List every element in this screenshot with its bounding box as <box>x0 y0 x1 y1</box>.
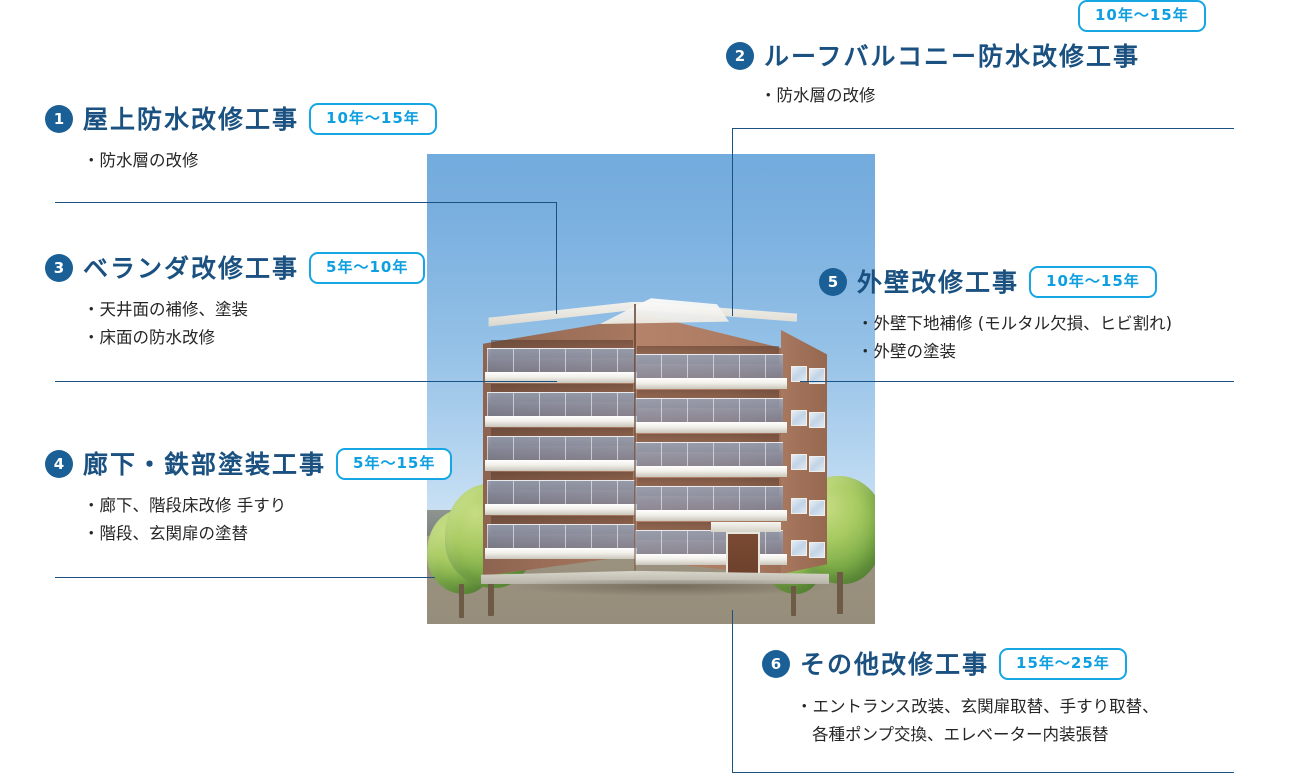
balcony-railing <box>487 480 635 506</box>
window <box>791 366 807 382</box>
balcony-slab <box>485 504 637 515</box>
connector-line-2 <box>732 128 1234 129</box>
balcony-railing <box>487 348 635 374</box>
section-title: ベランダ改修工事 <box>83 256 299 281</box>
list-item: 床面の防水改修 <box>83 324 425 352</box>
window <box>791 454 807 470</box>
section-title: ルーフバルコニー防水改修工事 <box>764 44 1140 69</box>
balcony-railing <box>635 398 783 424</box>
connector-line-4 <box>55 577 435 578</box>
balcony-slab <box>485 416 637 427</box>
building-structure <box>483 294 823 584</box>
section-1-header: 1 屋上防水改修工事 10年〜15年 <box>45 103 437 135</box>
section-1-rooftop-waterproofing: 1 屋上防水改修工事 10年〜15年 防水層の改修 <box>45 103 437 175</box>
balcony-railing <box>635 442 783 468</box>
balcony-railing <box>635 486 783 512</box>
building-ground-shadow <box>513 580 833 596</box>
section-5-items: 外壁下地補修 (モルタル欠損、ヒビ割れ) 外壁の塗装 <box>819 310 1172 367</box>
section-number-badge: 6 <box>762 650 790 678</box>
section-title: 屋上防水改修工事 <box>83 107 299 132</box>
section-number-badge: 3 <box>45 254 73 282</box>
balcony-slab <box>635 422 787 433</box>
connector-line-1 <box>556 202 557 314</box>
balcony-slab <box>635 554 787 565</box>
balcony-slab <box>485 460 637 471</box>
section-3-items: 天井面の補修、塗装 床面の防水改修 <box>45 296 425 353</box>
window <box>791 410 807 426</box>
section-4-corridor-steel-painting: 4 廊下・鉄部塗装工事 5年〜15年 廊下、階段床改修 手すり 階段、玄関扉の塗… <box>45 448 452 549</box>
section-number-badge: 5 <box>819 268 847 296</box>
section-5-header: 5 外壁改修工事 10年〜15年 <box>819 266 1172 298</box>
cycle-badge: 10年〜15年 <box>309 103 437 135</box>
connector-line-3 <box>55 381 557 382</box>
cycle-badge: 5年〜10年 <box>309 252 425 284</box>
section-title: 外壁改修工事 <box>857 270 1019 295</box>
cycle-badge: 5年〜15年 <box>336 448 452 480</box>
section-4-items: 廊下、階段床改修 手すり 階段、玄関扉の塗替 <box>45 492 452 549</box>
section-3-veranda-renovation: 3 ベランダ改修工事 5年〜10年 天井面の補修、塗装 床面の防水改修 <box>45 252 425 353</box>
cycle-badge: 10年〜15年 <box>1029 266 1157 298</box>
window <box>809 542 825 558</box>
list-item: 防水層の改修 <box>83 147 437 175</box>
cycle-badge: 10年〜15年 <box>1078 0 1206 32</box>
balcony-railing <box>487 524 635 550</box>
window <box>791 498 807 514</box>
section-2-roof-balcony-waterproofing: 10年〜15年 2 ルーフバルコニー防水改修工事 防水層の改修 <box>726 42 1140 110</box>
balcony-slab <box>485 548 637 559</box>
list-item: エントランス改装、玄関扉取替、手すり取替、 <box>796 693 1159 721</box>
window <box>791 540 807 556</box>
window <box>809 456 825 472</box>
section-6-other-renovation: 6 その他改修工事 15年〜25年 エントランス改装、玄関扉取替、手すり取替、 … <box>762 648 1159 750</box>
section-1-items: 防水層の改修 <box>45 147 437 175</box>
section-title: その他改修工事 <box>800 652 989 677</box>
list-item: 外壁下地補修 (モルタル欠損、ヒビ割れ) <box>857 310 1172 338</box>
section-2-header: 2 ルーフバルコニー防水改修工事 <box>726 42 1140 70</box>
list-item: 廊下、階段床改修 手すり <box>83 492 452 520</box>
section-6-header: 6 その他改修工事 15年〜25年 <box>762 648 1159 680</box>
apartment-building-image <box>427 154 875 624</box>
balcony-railing <box>487 436 635 462</box>
list-item: 各種ポンプ交換、エレベーター内装張替 <box>796 721 1159 749</box>
connector-line-1 <box>55 202 557 203</box>
renovation-cycle-diagram: 1 屋上防水改修工事 10年〜15年 防水層の改修 10年〜15年 2 ルーフバ… <box>0 0 1304 774</box>
section-6-items: エントランス改装、玄関扉取替、手すり取替、 各種ポンプ交換、エレベーター内装張替 <box>762 693 1159 750</box>
section-number-badge: 1 <box>45 105 73 133</box>
balcony-railing <box>635 354 783 380</box>
list-item: 階段、玄関扉の塗替 <box>83 520 452 548</box>
connector-line-5 <box>800 381 1234 382</box>
section-number-badge: 4 <box>45 450 73 478</box>
list-item: 防水層の改修 <box>760 82 1140 110</box>
section-3-header: 3 ベランダ改修工事 5年〜10年 <box>45 252 425 284</box>
section-number-badge: 2 <box>726 42 754 70</box>
balcony-slab <box>635 378 787 389</box>
connector-line-6 <box>732 772 1234 773</box>
balcony-railing <box>635 530 783 556</box>
balcony-railing <box>487 392 635 418</box>
section-4-header: 4 廊下・鉄部塗装工事 5年〜15年 <box>45 448 452 480</box>
connector-line-6 <box>732 610 733 772</box>
balcony-slab <box>635 510 787 521</box>
list-item: 外壁の塗装 <box>857 338 1172 366</box>
section-5-exterior-wall-renovation: 5 外壁改修工事 10年〜15年 外壁下地補修 (モルタル欠損、ヒビ割れ) 外壁… <box>819 266 1172 367</box>
cycle-badge: 15年〜25年 <box>999 648 1127 680</box>
balcony-slab <box>635 466 787 477</box>
window <box>809 500 825 516</box>
section-2-items: 防水層の改修 <box>726 82 1140 110</box>
window <box>809 412 825 428</box>
section-title: 廊下・鉄部塗装工事 <box>83 452 326 477</box>
entrance-canopy <box>711 522 781 532</box>
list-item: 天井面の補修、塗装 <box>83 296 425 324</box>
building-corner-seam <box>634 304 636 580</box>
connector-line-2 <box>732 128 733 316</box>
